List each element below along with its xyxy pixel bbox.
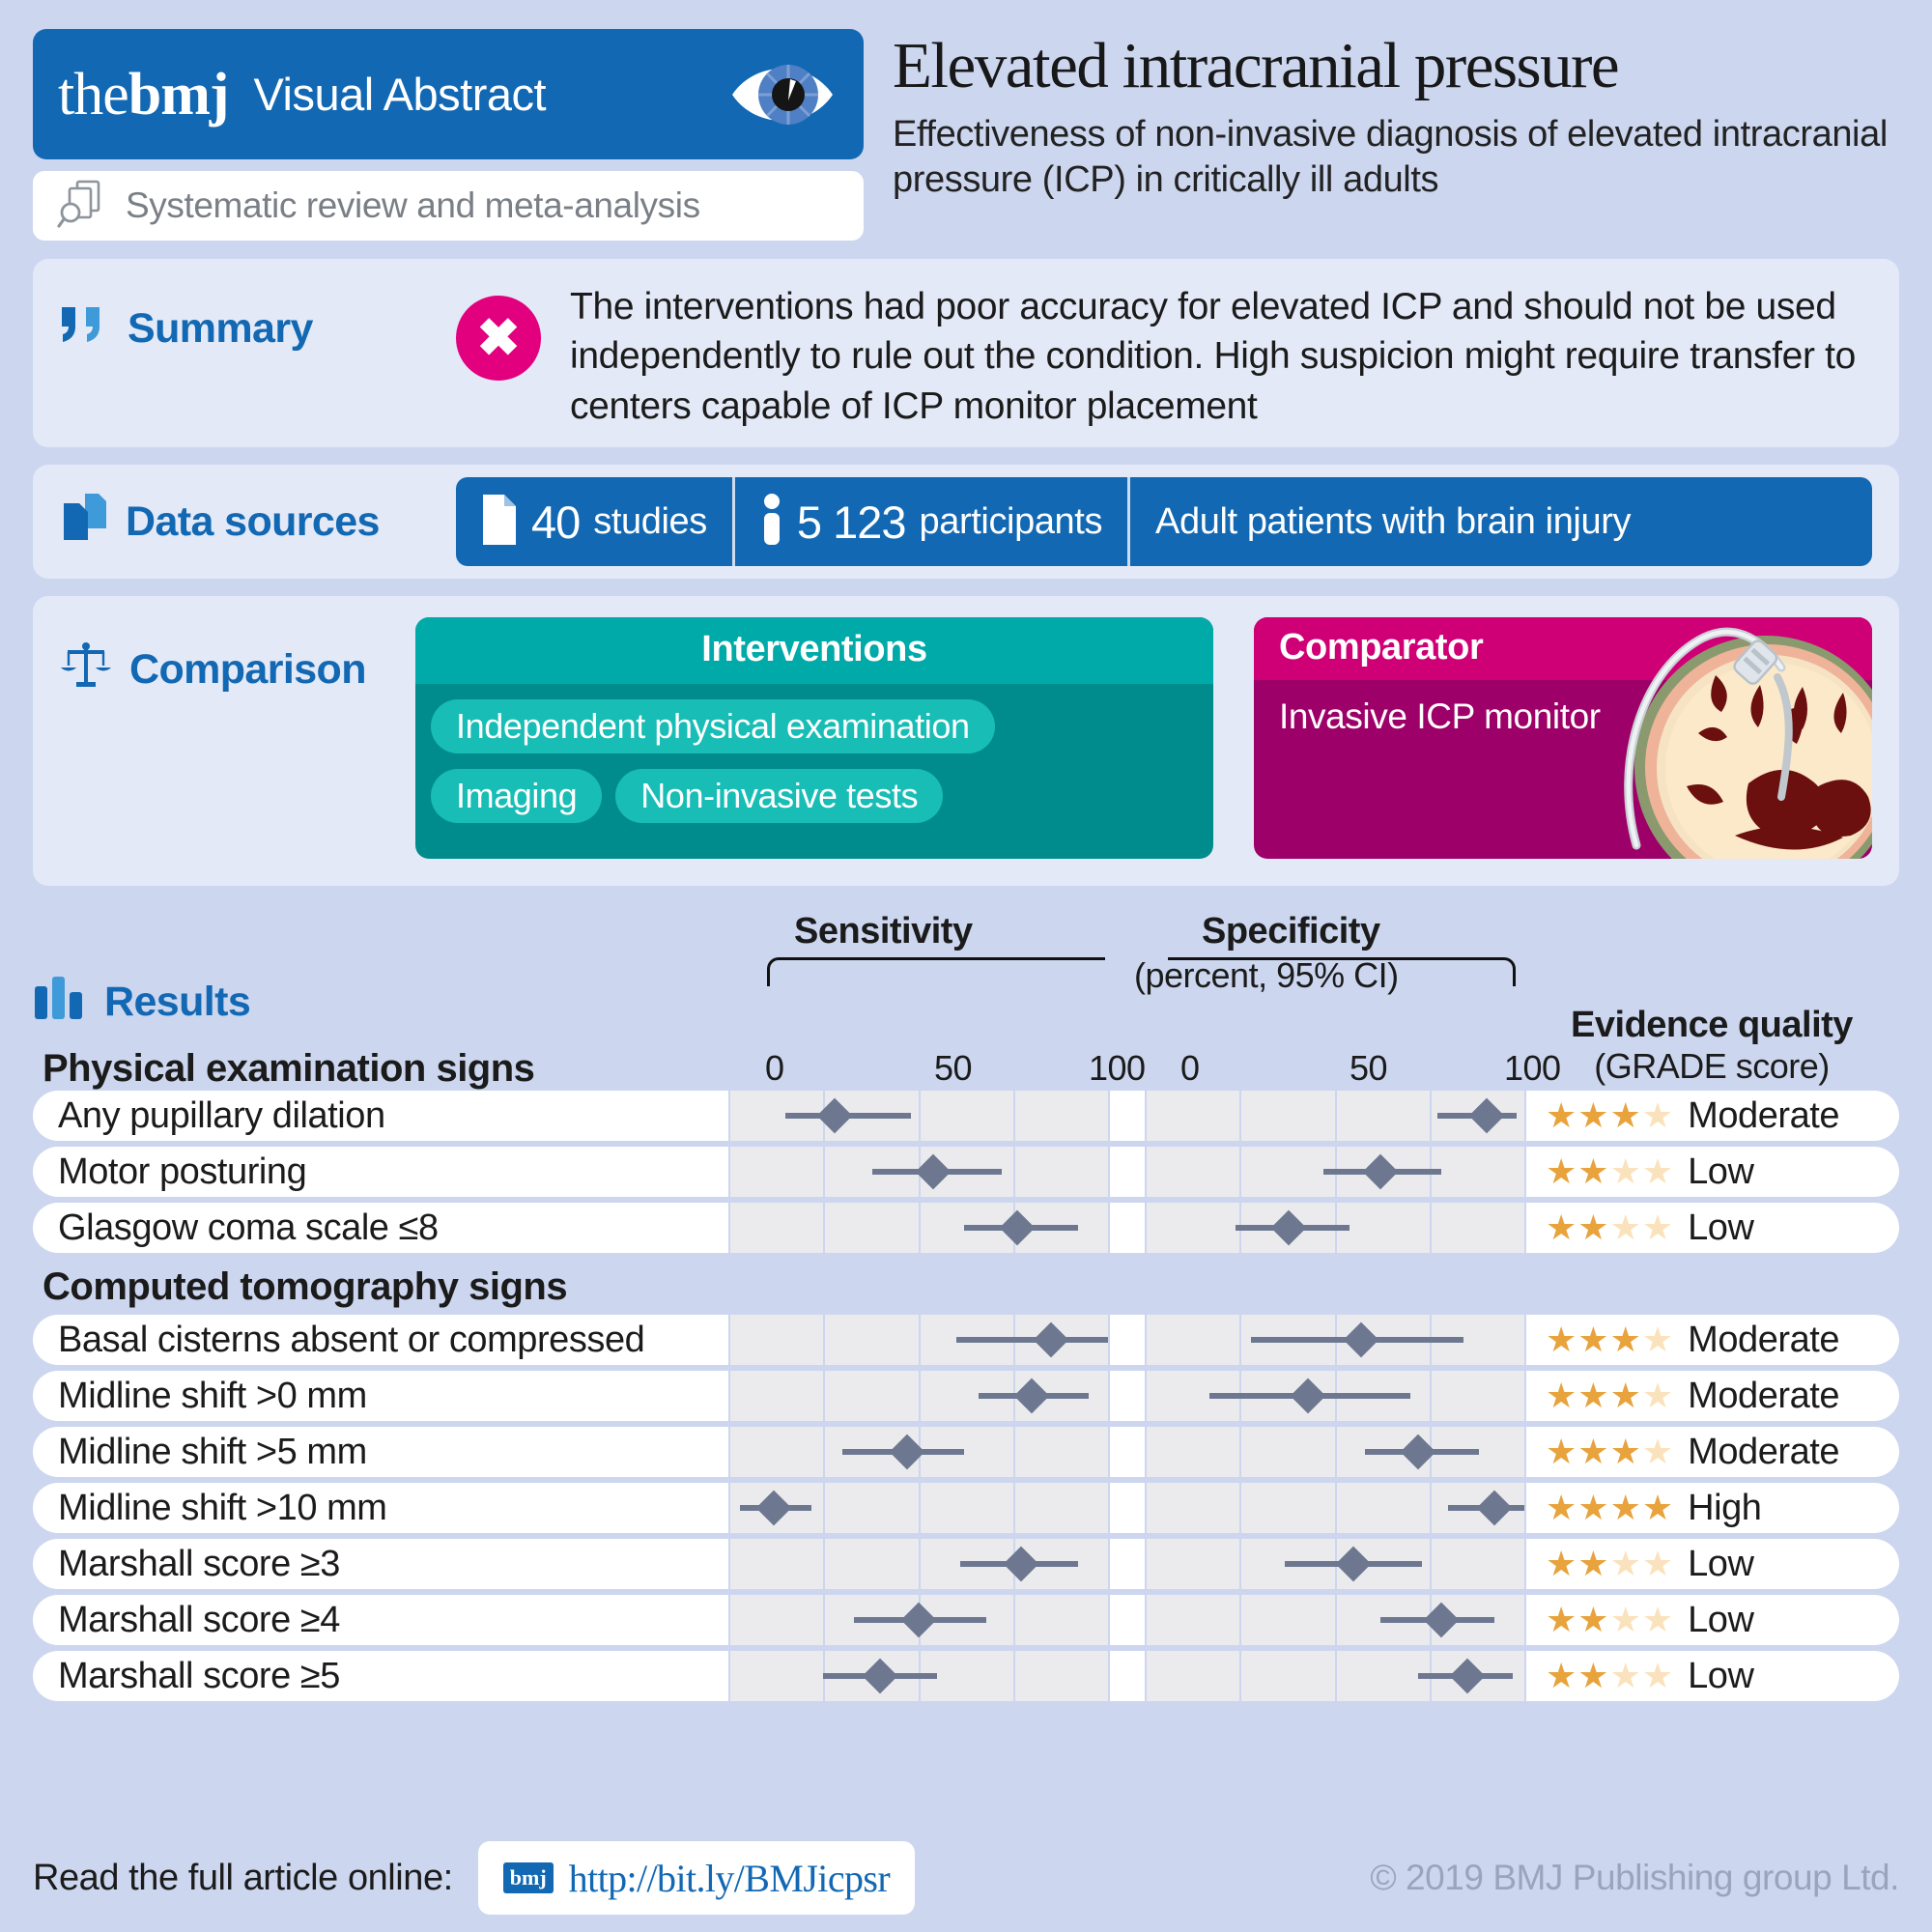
comparator-card: Comparator Invasive ICP monitor [1254,617,1872,859]
gridline [1524,1595,1526,1645]
gridline [1335,1427,1337,1477]
grade-star: ★ [1546,1151,1577,1191]
gridline [1108,1147,1110,1197]
data-sources-panel: Data sources 40 studies [33,465,1899,579]
row-label: Marshall score ≥5 [33,1651,728,1701]
gridline [1239,1315,1241,1365]
documents-icon [60,492,108,553]
grade-stars: ★★★★ [1546,1659,1674,1693]
gridline [1013,1427,1015,1477]
grade-stars: ★★★★ [1546,1322,1674,1357]
sensitivity-axis-title: Sensitivity [794,911,973,952]
table-row[interactable]: Midline shift >0 mm ★★★★ Moderate [33,1371,1899,1421]
summary-section-label: Summary [60,282,456,355]
group-header-row: Computed tomography signs [33,1259,1899,1315]
grade-stars: ★★★★ [1546,1154,1674,1189]
gridline [1108,1203,1110,1253]
results-header: Results Physical examination signs Sensi… [33,907,1899,1091]
study-type-text: Systematic review and meta-analysis [126,185,700,226]
results-header-left: Results Physical examination signs [33,975,728,1091]
grade-cell: ★★★★ Moderate [1524,1315,1899,1365]
table-row[interactable]: Any pupillary dilation ★★★★ Moderate [33,1091,1899,1141]
specificity-tick-0: 0 [1180,1048,1200,1089]
grade-star: ★ [1610,1544,1642,1583]
grade-star: ★ [1577,1320,1609,1359]
specificity-point-estimate [1271,1210,1307,1246]
gridline [728,1091,730,1141]
sensitivity-plot-cell [728,1595,1108,1645]
grade-star: ★ [1577,1207,1609,1247]
the-bmj-logo: thebmj [58,65,229,125]
grade-star: ★ [1642,1656,1674,1695]
specificity-plot-cell [1145,1203,1524,1253]
table-row[interactable]: Basal cisterns absent or compressed ★★★★… [33,1315,1899,1365]
gridline [823,1203,825,1253]
gridline [1430,1091,1432,1141]
grade-star: ★ [1546,1376,1577,1415]
grade-stars: ★★★★ [1546,1603,1674,1637]
intervention-pill-noninvasive-tests: Non-invasive tests [615,769,943,823]
interventions-title: Interventions [415,617,1213,684]
document-icon [481,493,518,552]
panel-gap [1108,1147,1145,1197]
grade-cell: ★★★★ Moderate [1524,1091,1899,1141]
grade-star: ★ [1577,1600,1609,1639]
intervention-pill-physical-exam: Independent physical examination [431,699,995,753]
grade-stars: ★★★★ [1546,1098,1674,1133]
row-label: Marshall score ≥4 [33,1595,728,1645]
gridline [1430,1203,1432,1253]
systematic-review-icon [56,178,108,235]
grade-label: Moderate [1688,1376,1839,1417]
gridline [1145,1315,1147,1365]
grade-label: High [1688,1488,1761,1529]
sensitivity-point-estimate [1003,1547,1038,1582]
specificity-tick-50: 50 [1350,1048,1387,1089]
results-section: Results Physical examination signs Sensi… [33,907,1899,1701]
grade-cell: ★★★★ Low [1524,1595,1899,1645]
studies-cell: 40 studies [456,477,732,566]
table-row[interactable]: Marshall score ≥5 ★★★★ Low [33,1651,1899,1701]
specificity-point-estimate [1291,1378,1326,1414]
sensitivity-point-estimate [756,1491,792,1526]
grade-label: Low [1688,1207,1753,1249]
results-section-label: Results [33,975,728,1030]
gridline [728,1483,730,1533]
gridline [728,1203,730,1253]
gridline [1013,1147,1015,1197]
specificity-point-estimate [1423,1603,1459,1638]
gridline [1239,1651,1241,1701]
interventions-pill-row-2: Imaging Non-invasive tests [415,769,1213,823]
grade-star: ★ [1610,1432,1642,1471]
sensitivity-plot-cell [728,1371,1108,1421]
gridline [728,1371,730,1421]
gridline [823,1427,825,1477]
sensitivity-point-estimate [1014,1378,1050,1414]
comparison-section-label: Comparison [60,617,415,699]
grade-label: Low [1688,1544,1753,1585]
specificity-plot-cell [1145,1315,1524,1365]
brain-icp-monitor-illustration [1553,617,1872,859]
gridline [1013,1091,1015,1141]
table-row[interactable]: Marshall score ≥4 ★★★★ Low [33,1595,1899,1645]
grade-star: ★ [1642,1320,1674,1359]
table-row[interactable]: Marshall score ≥3 ★★★★ Low [33,1539,1899,1589]
gridline [1108,1371,1110,1421]
gridline [1239,1483,1241,1533]
sensitivity-plot-cell [728,1483,1108,1533]
row-label: Motor posturing [33,1147,728,1197]
grade-star: ★ [1577,1095,1609,1135]
specificity-point-estimate [1468,1098,1504,1134]
specificity-bracket [1168,957,1516,986]
specificity-plot-cell [1145,1371,1524,1421]
population-cell: Adult patients with brain injury [1127,477,1656,566]
gridline [823,1147,825,1197]
sensitivity-plot-cell [728,1539,1108,1589]
sensitivity-plot-cell [728,1147,1108,1197]
grade-star: ★ [1610,1207,1642,1247]
comparison-panel: Comparison Interventions Independent phy… [33,596,1899,886]
row-label: Midline shift >5 mm [33,1427,728,1477]
cross-badge-icon [456,296,541,381]
grade-stars: ★★★★ [1546,1435,1674,1469]
grade-cell: ★★★★ High [1524,1483,1899,1533]
results-label-text: Results [104,979,250,1026]
logo-bmj-text: bmj [128,62,229,128]
gridline [1108,1651,1110,1701]
specificity-plot-cell [1145,1651,1524,1701]
gridline [823,1595,825,1645]
article-url-text[interactable]: http://bit.ly/BMJicpsr [569,1856,890,1901]
gridline [823,1539,825,1589]
grade-star: ★ [1546,1656,1577,1695]
grade-star: ★ [1546,1095,1577,1135]
grade-stars: ★★★★ [1546,1491,1674,1525]
grade-star: ★ [1610,1488,1642,1527]
grade-star: ★ [1610,1600,1642,1639]
gridline [1145,1427,1147,1477]
grade-label: Low [1688,1656,1753,1697]
group-header-physical-exam: Physical examination signs [33,1047,728,1091]
gridline [728,1427,730,1477]
gridline [1524,1483,1526,1533]
gridline [1335,1651,1337,1701]
gridline [823,1371,825,1421]
grade-label: Low [1688,1151,1753,1193]
sensitivity-plot-cell [728,1651,1108,1701]
gridline [1145,1147,1147,1197]
table-row[interactable]: Motor posturing ★★★★ Low [33,1147,1899,1197]
panel-gap [1108,1091,1145,1141]
sensitivity-point-estimate [863,1659,898,1694]
specificity-plot-cell [1145,1427,1524,1477]
gridline [1524,1315,1526,1365]
logo-the-text: the [58,62,128,128]
gridline [1108,1595,1110,1645]
sensitivity-tick-50: 50 [934,1048,972,1089]
panel-gap [1108,1483,1145,1533]
population-text: Adult patients with brain injury [1155,501,1631,543]
gridline [1145,1651,1147,1701]
evidence-quality-title: Evidence quality [1528,1005,1895,1046]
participants-unit: participants [920,501,1103,543]
grade-star: ★ [1642,1600,1674,1639]
grade-star: ★ [1642,1207,1674,1247]
row-label: Glasgow coma scale ≤8 [33,1203,728,1253]
grade-cell: ★★★★ Low [1524,1147,1899,1197]
person-icon [760,493,783,552]
grade-cell: ★★★★ Low [1524,1539,1899,1589]
bmj-chip-icon: bmj [503,1862,554,1893]
quote-icon [60,303,110,355]
grade-star: ★ [1546,1320,1577,1359]
page-title: Elevated intracranial pressure [893,33,1899,99]
panel-gap [1108,1539,1145,1589]
gridline [919,1091,921,1141]
grade-star: ★ [1577,1488,1609,1527]
gridline [1524,1539,1526,1589]
gridline [1524,1427,1526,1477]
evidence-quality-subtitle: (GRADE score) [1528,1046,1895,1087]
comparison-label-text: Comparison [129,646,366,694]
grade-label: Moderate [1688,1095,1839,1137]
copyright-text: © 2019 BMJ Publishing group Ltd. [1370,1858,1899,1898]
gridline [1430,1483,1432,1533]
sensitivity-tick-100: 100 [1089,1048,1146,1089]
gridline [1108,1427,1110,1477]
grade-star: ★ [1546,1207,1577,1247]
panel-gap [1108,1595,1145,1645]
grade-star: ★ [1642,1376,1674,1415]
gridline [1013,1595,1015,1645]
gridline [1335,1595,1337,1645]
gridline [1524,1203,1526,1253]
interventions-pill-row-1: Independent physical examination [415,699,1213,753]
intervention-pill-imaging: Imaging [431,769,602,823]
row-label: Basal cisterns absent or compressed [33,1315,728,1365]
grade-stars: ★★★★ [1546,1378,1674,1413]
specificity-axis-title: Specificity [1202,911,1380,952]
gridline [728,1147,730,1197]
grade-star: ★ [1546,1488,1577,1527]
grade-star: ★ [1577,1656,1609,1695]
sensitivity-point-estimate [999,1210,1035,1246]
bmj-brand-bar: thebmj Visual Abstract [33,29,864,159]
gridline [1239,1147,1241,1197]
gridline [1108,1483,1110,1533]
gridline [1145,1091,1147,1141]
read-article-label: Read the full article online: [33,1858,453,1899]
summary-label-text: Summary [128,305,313,353]
grade-star: ★ [1642,1432,1674,1471]
specificity-point-estimate [1362,1154,1398,1190]
grade-label: Moderate [1688,1432,1839,1473]
sensitivity-plot-cell [728,1203,1108,1253]
grade-stars: ★★★★ [1546,1210,1674,1245]
sensitivity-point-estimate [817,1098,853,1134]
grade-star: ★ [1642,1095,1674,1135]
specificity-plot-cell [1145,1483,1524,1533]
row-label: Midline shift >10 mm [33,1483,728,1533]
gridline [1335,1483,1337,1533]
gridline [1430,1539,1432,1589]
gridline [1108,1091,1110,1141]
study-type-bar: Systematic review and meta-analysis [33,171,864,241]
grade-label: Low [1688,1600,1753,1641]
studies-count: 40 [531,496,580,549]
gridline [919,1315,921,1365]
gridline [1108,1539,1110,1589]
table-row[interactable]: Midline shift >5 mm ★★★★ Moderate [33,1427,1899,1477]
sensitivity-plot-cell [728,1315,1108,1365]
brand-column: thebmj Visual Abstract [33,29,864,241]
gridline [919,1371,921,1421]
specificity-point-estimate [1344,1322,1379,1358]
gridline [1145,1371,1147,1421]
gridline [1239,1595,1241,1645]
panel-gap [1108,1203,1145,1253]
gridline [1145,1483,1147,1533]
participants-cell: 5 123 participants [732,477,1127,566]
row-label: Any pupillary dilation [33,1091,728,1141]
grade-cell: ★★★★ Low [1524,1651,1899,1701]
gridline [1524,1147,1526,1197]
panel-gap [1108,1315,1145,1365]
group-header-ct-signs: Computed tomography signs [33,1265,567,1309]
sensitivity-bracket [767,957,1105,986]
visual-abstract-page: thebmj Visual Abstract [0,0,1932,1932]
sensitivity-plot-cell [728,1427,1108,1477]
grade-cell: ★★★★ Low [1524,1203,1899,1253]
header: thebmj Visual Abstract [33,29,1899,241]
grade-star: ★ [1546,1432,1577,1471]
panel-gap [1108,1427,1145,1477]
title-column: Elevated intracranial pressure Effective… [893,29,1899,241]
interventions-card: Interventions Independent physical exami… [415,617,1213,859]
gridline [919,1483,921,1533]
grade-label: Moderate [1688,1320,1839,1361]
gridline [728,1315,730,1365]
gridline [823,1483,825,1533]
grade-star: ★ [1610,1656,1642,1695]
grade-star: ★ [1546,1600,1577,1639]
specificity-plot-cell [1145,1091,1524,1141]
gridline [1430,1371,1432,1421]
participants-count: 5 123 [797,496,906,549]
gridline [1524,1371,1526,1421]
specificity-point-estimate [1450,1659,1486,1694]
data-sources-section-label: Data sources [60,492,456,553]
panel-gap [1108,1651,1145,1701]
gridline [1524,1651,1526,1701]
grade-cell: ★★★★ Moderate [1524,1427,1899,1477]
panel-gap [1108,1371,1145,1421]
specificity-point-estimate [1336,1547,1372,1582]
gridline [728,1651,730,1701]
grade-star: ★ [1642,1488,1674,1527]
gridline [1145,1203,1147,1253]
visual-abstract-label: Visual Abstract [254,68,547,121]
gridline [1145,1595,1147,1645]
gridline [1239,1427,1241,1477]
gridline [1524,1091,1526,1141]
page-subtitle: Effectiveness of non-invasive diagnosis … [893,112,1899,202]
grade-star: ★ [1610,1376,1642,1415]
gridline [823,1315,825,1365]
data-sources-label-text: Data sources [126,498,380,546]
grade-star: ★ [1610,1095,1642,1135]
axis-header-area: Sensitivity (percent, 95% CI) Specificit… [728,907,1899,1091]
article-url-button[interactable]: bmj http://bit.ly/BMJicpsr [478,1841,915,1915]
grade-star: ★ [1577,1432,1609,1471]
sensitivity-point-estimate [916,1154,952,1190]
gridline [1108,1315,1110,1365]
gridline [728,1539,730,1589]
sensitivity-tick-0: 0 [765,1048,784,1089]
gridline [919,1203,921,1253]
sensitivity-plot-cell [728,1091,1108,1141]
summary-text: The interventions had poor accuracy for … [541,282,1872,431]
sensitivity-point-estimate [1034,1322,1069,1358]
gridline [1013,1483,1015,1533]
grade-star: ★ [1546,1544,1577,1583]
grade-star: ★ [1642,1544,1674,1583]
grade-star: ★ [1577,1151,1609,1191]
gridline [1013,1651,1015,1701]
summary-panel: Summary The interventions had poor accur… [33,259,1899,447]
gridline [919,1539,921,1589]
footer: Read the full article online: bmj http:/… [33,1837,1899,1918]
grade-stars: ★★★★ [1546,1547,1674,1581]
sensitivity-confidence-interval [956,1337,1108,1343]
specificity-plot-cell [1145,1539,1524,1589]
grade-star: ★ [1610,1151,1642,1191]
specificity-plot-cell [1145,1147,1524,1197]
table-row[interactable]: Midline shift >10 mm ★★★★ High [33,1483,1899,1533]
gridline [1239,1091,1241,1141]
grade-star: ★ [1610,1320,1642,1359]
sensitivity-point-estimate [900,1603,936,1638]
table-row[interactable]: Glasgow coma scale ≤8 ★★★★ Low [33,1203,1899,1253]
scales-icon [60,640,112,699]
grade-star: ★ [1642,1151,1674,1191]
row-label: Marshall score ≥3 [33,1539,728,1589]
eye-icon [728,56,837,133]
grade-cell: ★★★★ Moderate [1524,1371,1899,1421]
data-sources-bar: 40 studies 5 123 participants Adult pati… [456,477,1872,566]
gridline [1239,1539,1241,1589]
bar-chart-icon [33,975,87,1030]
grade-star: ★ [1577,1544,1609,1583]
evidence-quality-header: Evidence quality (GRADE score) [1528,1005,1895,1087]
gridline [1335,1091,1337,1141]
specificity-plot-cell [1145,1595,1524,1645]
gridline [1145,1539,1147,1589]
results-rows-container: Any pupillary dilation ★★★★ Moderate [33,1091,1899,1701]
grade-star: ★ [1577,1376,1609,1415]
row-label: Midline shift >0 mm [33,1371,728,1421]
gridline [728,1595,730,1645]
studies-unit: studies [593,501,707,543]
specificity-point-estimate [1476,1491,1512,1526]
